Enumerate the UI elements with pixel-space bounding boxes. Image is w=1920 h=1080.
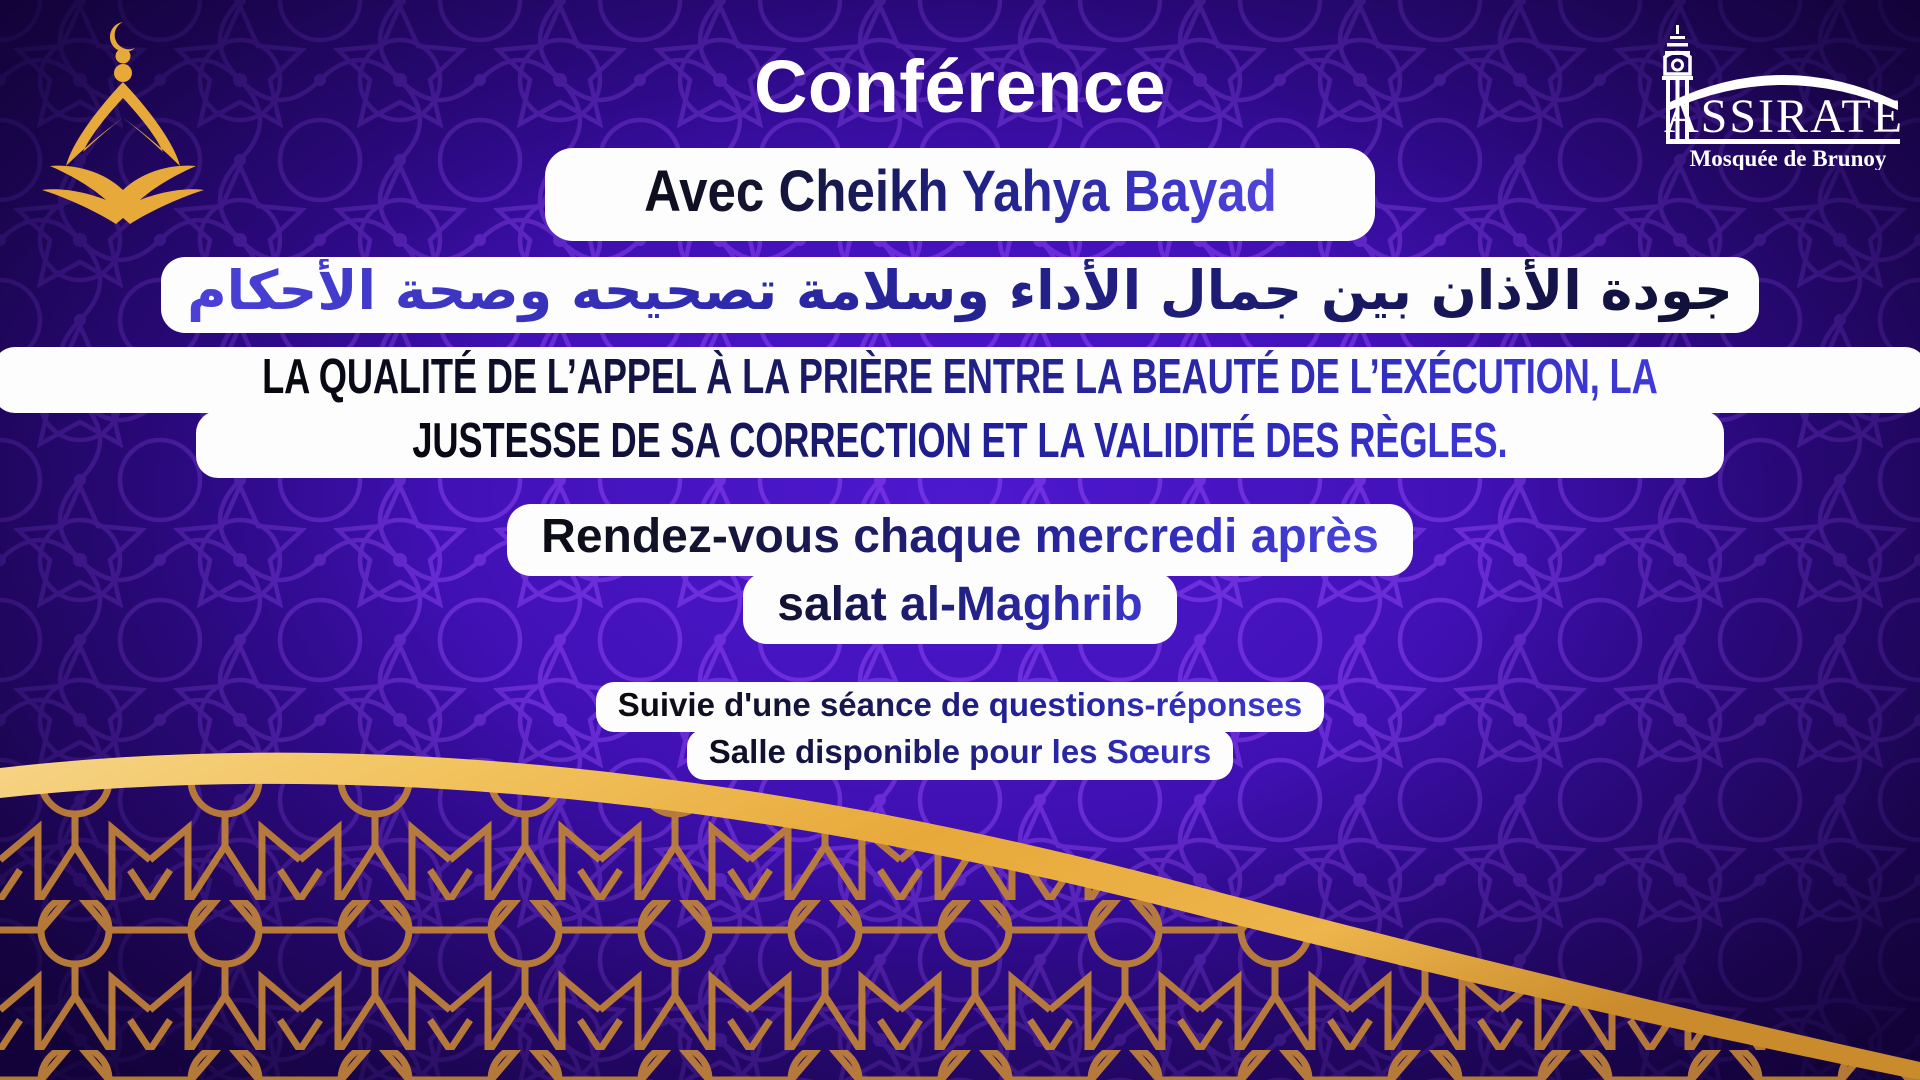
schedule-line-2: salat al-Maghrib (743, 572, 1176, 644)
speaker-banner: Avec Cheikh Yahya Bayad (545, 148, 1376, 241)
footer-line-1-text: Suivie d'une séance de questions-réponse… (618, 686, 1303, 723)
schedule-block: Rendez-vous chaque mercredi après salat … (507, 504, 1413, 644)
french-title-line-1: LA QUALITÉ DE L’APPEL À LA PRIÈRE ENTRE … (0, 347, 1920, 414)
schedule-line-1: Rendez-vous chaque mercredi après (507, 504, 1413, 576)
schedule-line-2-text: salat al-Maghrib (777, 578, 1142, 631)
french-title-line-1-text: LA QUALITÉ DE L’APPEL À LA PRIÈRE ENTRE … (262, 350, 1657, 406)
speaker-plate: Avec Cheikh Yahya Bayad (545, 148, 1376, 241)
footer-line-2-text: Salle disponible pour les Sœurs (709, 733, 1211, 770)
french-title-line-2: JUSTESSE DE SA CORRECTION ET LA VALIDITÉ… (196, 411, 1724, 478)
french-title: LA QUALITÉ DE L’APPEL À LA PRIÈRE ENTRE … (0, 349, 1920, 479)
footer-line-1: Suivie d'une séance de questions-réponse… (596, 682, 1325, 733)
footer-block: Suivie d'une séance de questions-réponse… (596, 682, 1325, 780)
footer-line-2: Salle disponible pour les Sœurs (687, 729, 1233, 780)
poster-content: Conférence Avec Cheikh Yahya Bayad جودة … (0, 0, 1920, 1080)
page-title: Conférence (754, 50, 1166, 124)
arabic-title-plate: جودة الأذان بين جمال الأداء وسلامة تصحيح… (161, 257, 1759, 333)
schedule-line-1-text: Rendez-vous chaque mercredi après (541, 510, 1379, 563)
poster-canvas: ASSIRATE Mosquée de Brunoy (0, 0, 1920, 1080)
speaker-name: Avec Cheikh Yahya Bayad (603, 152, 1317, 237)
arabic-title: جودة الأذان بين جمال الأداء وسلامة تصحيح… (187, 259, 1733, 323)
french-title-line-2-text: JUSTESSE DE SA CORRECTION ET LA VALIDITÉ… (412, 414, 1507, 470)
